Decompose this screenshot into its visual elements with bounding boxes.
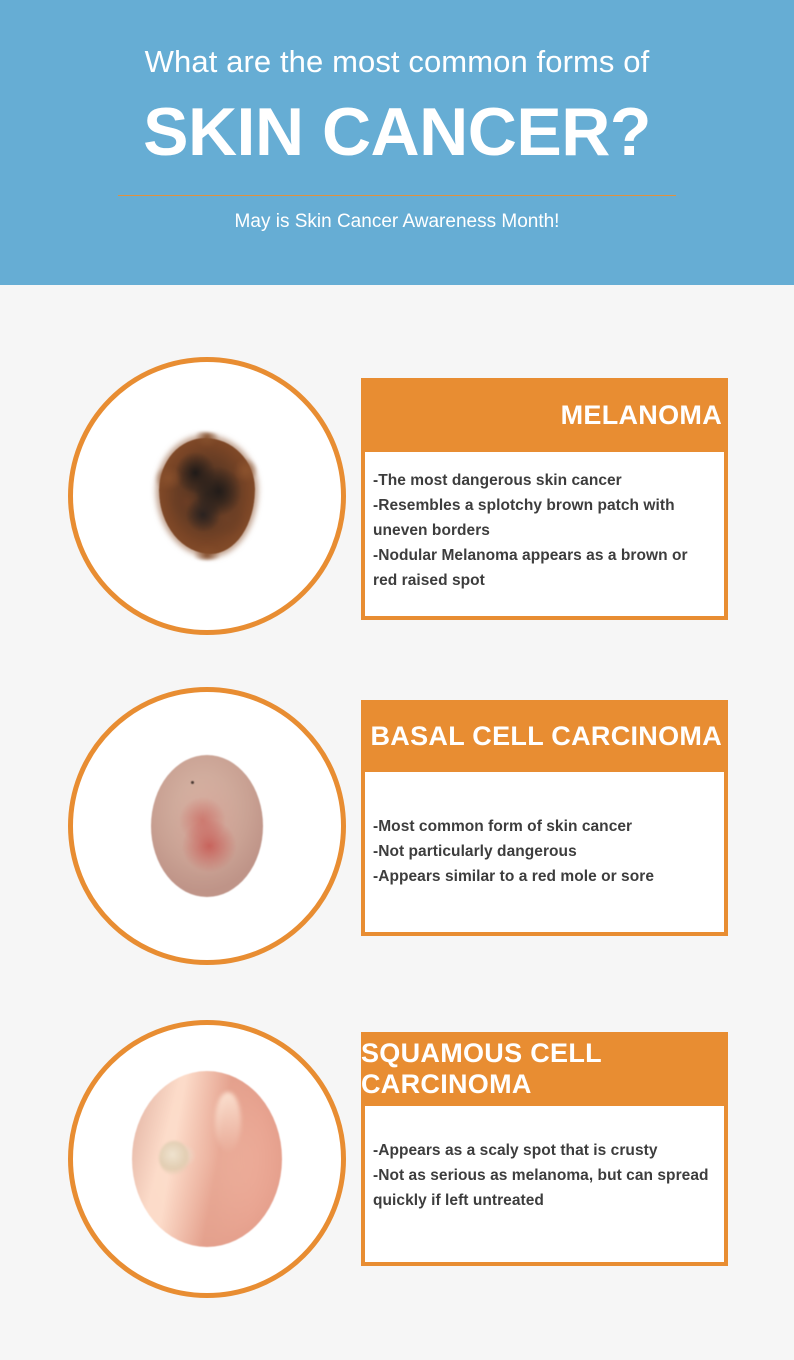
bullet-item: -Resembles a splotchy brown patch with u…	[373, 493, 710, 543]
bullet-item: -Not as serious as melanoma, but can spr…	[373, 1163, 710, 1213]
melanoma-lesion-image	[159, 438, 255, 554]
card-melanoma-title-band: MELANOMA	[361, 378, 728, 452]
card-basal-body: -Most common form of skin cancer -Not pa…	[361, 772, 728, 936]
card-squamous-title-band: SQUAMOUS CELL CARCINOMA	[361, 1032, 728, 1106]
card-squamous-body: -Appears as a scaly spot that is crusty …	[361, 1106, 728, 1266]
card-basal-title: BASAL CELL CARCINOMA	[370, 721, 722, 752]
infographic-page: What are the most common forms of SKIN C…	[0, 0, 794, 1360]
header-divider	[118, 195, 676, 196]
bullet-item: -Appears similar to a red mole or sore	[373, 864, 710, 889]
squamous-photo-circle	[68, 1020, 346, 1298]
squamous-cell-lesion-image	[132, 1071, 282, 1247]
bullet-item: -Not particularly dangerous	[373, 839, 710, 864]
bullet-item: -Most common form of skin cancer	[373, 814, 710, 839]
basal-photo-circle	[68, 687, 346, 965]
card-melanoma-title: MELANOMA	[561, 400, 722, 431]
card-squamous-title: SQUAMOUS CELL CARCINOMA	[361, 1038, 722, 1100]
bullet-item: -Nodular Melanoma appears as a brown or …	[373, 543, 710, 593]
card-squamous-cell-carcinoma: SQUAMOUS CELL CARCINOMA -Appears as a sc…	[361, 1032, 728, 1266]
card-basal-title-band: BASAL CELL CARCINOMA	[361, 700, 728, 772]
melanoma-photo-circle	[68, 357, 346, 635]
basal-cell-lesion-image	[151, 755, 263, 897]
card-squamous-bullets: -Appears as a scaly spot that is crusty …	[365, 1106, 724, 1213]
page-title: SKIN CANCER?	[0, 92, 794, 172]
page-header: What are the most common forms of SKIN C…	[0, 0, 794, 285]
bullet-item: -Appears as a scaly spot that is crusty	[373, 1138, 710, 1163]
card-melanoma-bullets: -The most dangerous skin cancer -Resembl…	[365, 452, 724, 593]
header-kicker: What are the most common forms of	[0, 42, 794, 82]
card-basal-bullets: -Most common form of skin cancer -Not pa…	[365, 772, 724, 889]
header-subtitle: May is Skin Cancer Awareness Month!	[0, 208, 794, 236]
card-melanoma-body: -The most dangerous skin cancer -Resembl…	[361, 452, 728, 620]
bullet-item: -The most dangerous skin cancer	[373, 468, 710, 493]
card-basal-cell-carcinoma: BASAL CELL CARCINOMA -Most common form o…	[361, 700, 728, 936]
card-melanoma: MELANOMA -The most dangerous skin cancer…	[361, 378, 728, 620]
